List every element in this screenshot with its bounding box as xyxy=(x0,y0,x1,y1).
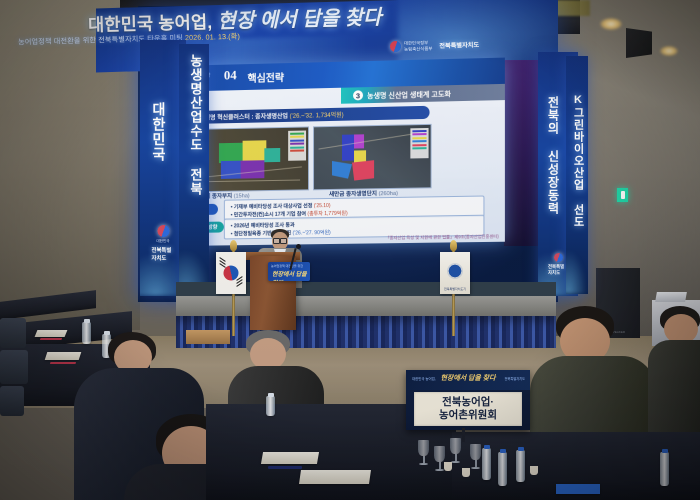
banner-right-line-right: 전북의 신성장동력 xyxy=(545,96,562,215)
presentation-slide: 대전환 시책방향 04 핵심전략 3 농생명 신산업 생태계 고도화 1) 농생… xyxy=(159,58,505,247)
banner-right-line-left: K그린바이오산업 선도 xyxy=(570,94,586,228)
water-bottle xyxy=(498,452,507,486)
notebook xyxy=(556,484,600,494)
taegeuk-icon xyxy=(554,253,563,262)
placard-header: 대한민국 농어업, 현장에서 답을 찾다 전북특별자치도 xyxy=(406,370,530,390)
banner-left-inner: 농생명산업수도 전북 xyxy=(179,44,209,294)
document xyxy=(299,470,371,484)
pen xyxy=(50,362,77,364)
wine-glass xyxy=(418,440,429,456)
placard-name-area: 전북농어업· 농어촌위원회 xyxy=(414,392,522,426)
government-logo-text: 대한민국정부 농림축산식품부 xyxy=(404,40,433,52)
chair xyxy=(0,386,24,416)
laptop xyxy=(655,292,687,302)
podium-sign-main: 현장에서 답을 찾다 xyxy=(272,269,310,281)
paper-cup xyxy=(444,462,452,471)
placard-name: 전북농어업· 농어촌위원회 xyxy=(439,396,497,422)
water-bottle xyxy=(82,322,91,344)
placard-stand xyxy=(462,428,465,442)
province-emblem-icon xyxy=(447,263,463,279)
bullet-item: • 2026년 예비타당성 조사 통과 xyxy=(231,222,295,230)
paper-cup xyxy=(462,468,470,477)
banner-wave xyxy=(566,250,587,294)
document xyxy=(261,452,319,464)
water-bottle xyxy=(660,452,669,486)
map-zone xyxy=(264,148,280,162)
document xyxy=(45,352,82,360)
placard-header-left: 대한민국 농어업, xyxy=(412,376,436,381)
slide-number: 04 xyxy=(224,67,237,83)
banner-left-line-left: 농생명산업수도 전북 xyxy=(186,54,205,196)
placard-header-right: 전북특별자치도 xyxy=(504,376,525,381)
map-zone xyxy=(342,135,354,161)
downlight-icon xyxy=(600,18,622,30)
banner-right-logo: 전북특별자치도 xyxy=(548,253,568,276)
province-label: 전북특별자치도 xyxy=(439,40,479,50)
wine-glass xyxy=(470,444,481,460)
wine-glass xyxy=(450,438,461,454)
banner-left-logo: 대한민국 전북특별자치도 xyxy=(152,225,175,262)
flag-finial xyxy=(230,240,237,251)
event-date: 2026. 01. 13.(화) xyxy=(185,32,240,42)
map-zone xyxy=(221,161,243,179)
banner-right-inner: K그린바이오산업 선도 xyxy=(566,56,588,294)
slide-section-label: 농생명 신산업 생태계 고도화 xyxy=(367,89,451,101)
water-bottle xyxy=(516,450,525,482)
podium-sign: 농어업정책 대전환을 위한 현장에서 답을 찾다 xyxy=(268,262,310,281)
flag-province: 전북특별자치도기 xyxy=(440,252,470,294)
map-legend xyxy=(288,130,306,160)
taegeuk-icon xyxy=(390,41,401,52)
glasses-icon xyxy=(273,238,287,242)
map-legend xyxy=(410,128,428,159)
name-placard: 대한민국 농어업, 현장에서 답을 찾다 전북특별자치도 전북농어업· 농어촌위… xyxy=(406,370,530,430)
placard-header-center: 현장에서 답을 찾다 xyxy=(440,373,495,383)
flag-korea xyxy=(216,252,246,294)
paper-cup xyxy=(530,466,538,475)
chair xyxy=(0,350,28,384)
chair xyxy=(0,318,26,348)
banner-left-line-right: 대한민국 xyxy=(149,102,169,162)
slide-footnote: 「종자산업 육성 및 지원에 관한 법률」제9조(종자산업진흥센터) xyxy=(385,234,498,242)
water-bottle xyxy=(482,448,491,480)
taegeuk-icon xyxy=(157,225,169,237)
site-map-saemangeum xyxy=(313,124,432,190)
stage-step xyxy=(186,330,230,344)
document xyxy=(35,330,68,337)
map-zone xyxy=(354,150,366,162)
flag-finial xyxy=(450,240,457,251)
slide-subtitle-amount: ('26.~'32. 1,734억원) xyxy=(290,113,344,120)
conference-photo-scene: SPEAKER 대한민국 농어업, 현장 에서 답을 찾다 농어업정책 대전환을… xyxy=(0,0,700,500)
slide-heading: 핵심전략 xyxy=(248,69,284,85)
flag-province-label: 전북특별자치도기 xyxy=(444,287,466,291)
pen xyxy=(268,466,302,469)
water-bottle xyxy=(266,396,275,416)
flown-loudspeaker xyxy=(626,28,652,58)
exit-sign-icon xyxy=(617,188,628,202)
podium-sign-top: 농어업정책 대전환을 위한 xyxy=(271,264,303,268)
microphone-icon xyxy=(296,244,301,249)
pen xyxy=(40,338,63,340)
event-title-main: 대한민국 농어업, xyxy=(88,12,213,35)
wine-glass xyxy=(434,446,445,462)
government-logo: 대한민국정부 농림축산식품부 전북특별자치도 xyxy=(390,39,479,52)
downlight-icon xyxy=(660,46,678,56)
map-zone xyxy=(352,160,374,180)
map-zone xyxy=(241,160,265,178)
